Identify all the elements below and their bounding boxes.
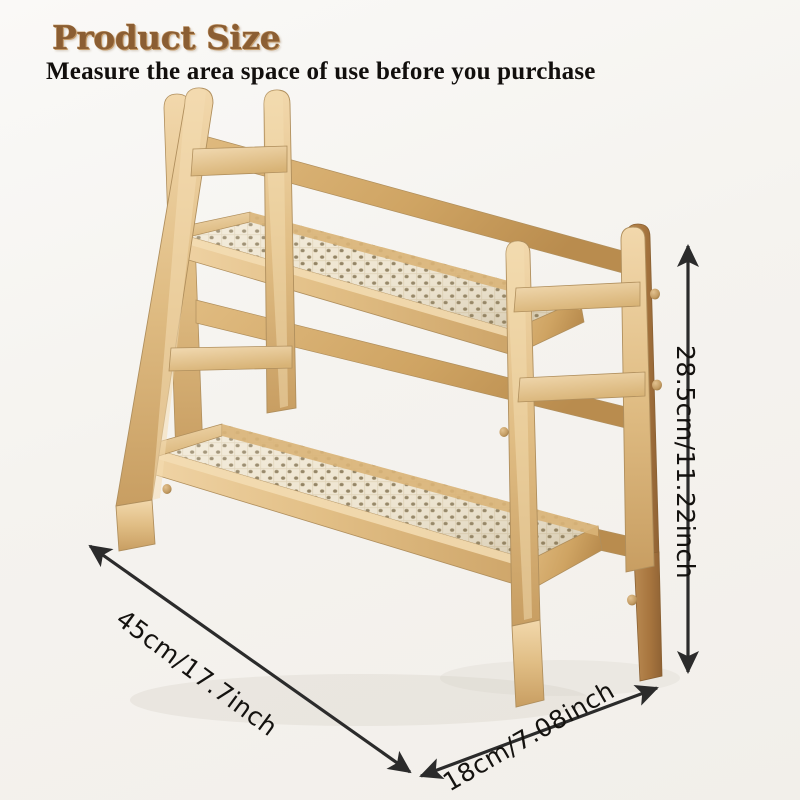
dimension-arrow-width xyxy=(90,546,410,772)
product-size-infographic: Product Size Measure the area space of u… xyxy=(0,0,800,800)
dimension-label-height: 28.5cm/11.22inch xyxy=(671,345,700,579)
